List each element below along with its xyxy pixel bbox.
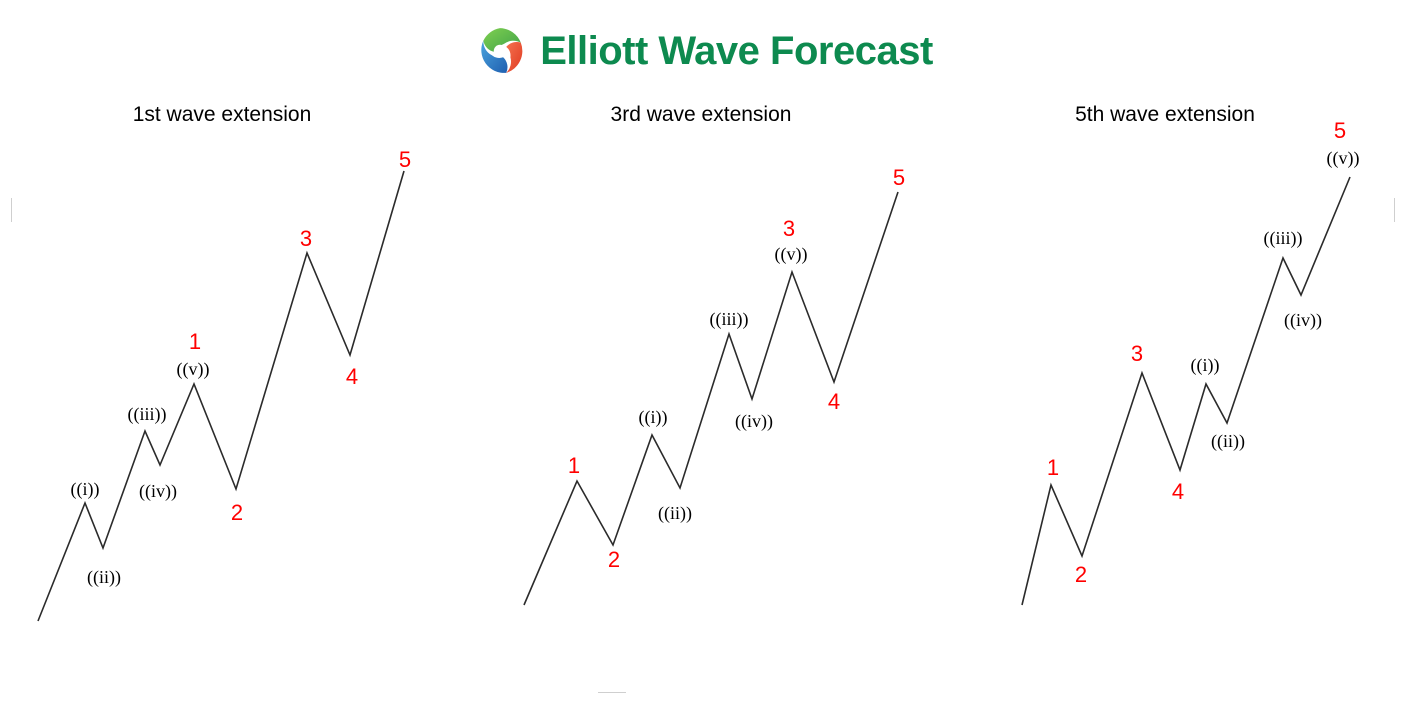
chart-panel-1st-wave-extension: 1st wave extension ((i))((ii))((iii))((i… (0, 0, 469, 705)
wave-label-3-chart1: 3 (300, 228, 312, 250)
wave-label-4-chart3: 4 (1172, 481, 1184, 503)
wave-label-iv-chart2: ((iv)) (735, 412, 773, 430)
wave-label-iv-chart1: ((iv)) (139, 482, 177, 500)
wave-line-3 (938, 0, 1407, 705)
edge-artifact-left (11, 198, 12, 222)
elliott-wave-diagram-page: Elliott Wave Forecast 1st wave extension… (0, 0, 1407, 705)
wave-label-iii-chart3: ((iii)) (1264, 229, 1303, 247)
wave-label-2-chart3: 2 (1075, 564, 1087, 586)
wave-label-5-chart1: 5 (399, 149, 411, 171)
wave-label-v-chart3: ((v)) (1327, 149, 1360, 167)
wave-label-3-chart3: 3 (1131, 343, 1143, 365)
wave-label-i-chart1: ((i)) (71, 480, 100, 498)
wave-label-5-chart3: 5 (1334, 120, 1346, 142)
chart-panel-5th-wave-extension: 5th wave extension 1234((i))((ii))((iii)… (938, 0, 1407, 705)
wave-label-3-chart2: 3 (783, 218, 795, 240)
wave-label-5-chart2: 5 (893, 167, 905, 189)
wave-line-2 (469, 0, 938, 705)
wave-label-ii-chart3: ((ii)) (1211, 432, 1245, 450)
wave-line-1 (0, 0, 469, 705)
wave-label-iv-chart3: ((iv)) (1284, 311, 1322, 329)
wave-label-ii-chart2: ((ii)) (658, 504, 692, 522)
edge-artifact-right (1394, 198, 1395, 222)
wave-label-ii-chart1: ((ii)) (87, 568, 121, 586)
wave-label-v-chart2: ((v)) (775, 245, 808, 263)
wave-label-iii-chart2: ((iii)) (710, 310, 749, 328)
wave-label-iii-chart1: ((iii)) (128, 405, 167, 423)
wave-label-4-chart2: 4 (828, 391, 840, 413)
wave-label-1-chart2: 1 (568, 455, 580, 477)
wave-label-i-chart3: ((i)) (1191, 356, 1220, 374)
wave-label-2-chart1: 2 (231, 502, 243, 524)
wave-label-4-chart1: 4 (346, 366, 358, 388)
chart-panel-3rd-wave-extension: 3rd wave extension 12((i))((ii))((iii))(… (469, 0, 938, 705)
wave-label-v-chart1: ((v)) (177, 360, 210, 378)
wave-label-i-chart2: ((i)) (639, 408, 668, 426)
wave-label-2-chart2: 2 (608, 549, 620, 571)
edge-artifact-bottom (598, 692, 626, 693)
wave-label-1-chart3: 1 (1047, 457, 1059, 479)
wave-label-1-chart1: 1 (189, 331, 201, 353)
